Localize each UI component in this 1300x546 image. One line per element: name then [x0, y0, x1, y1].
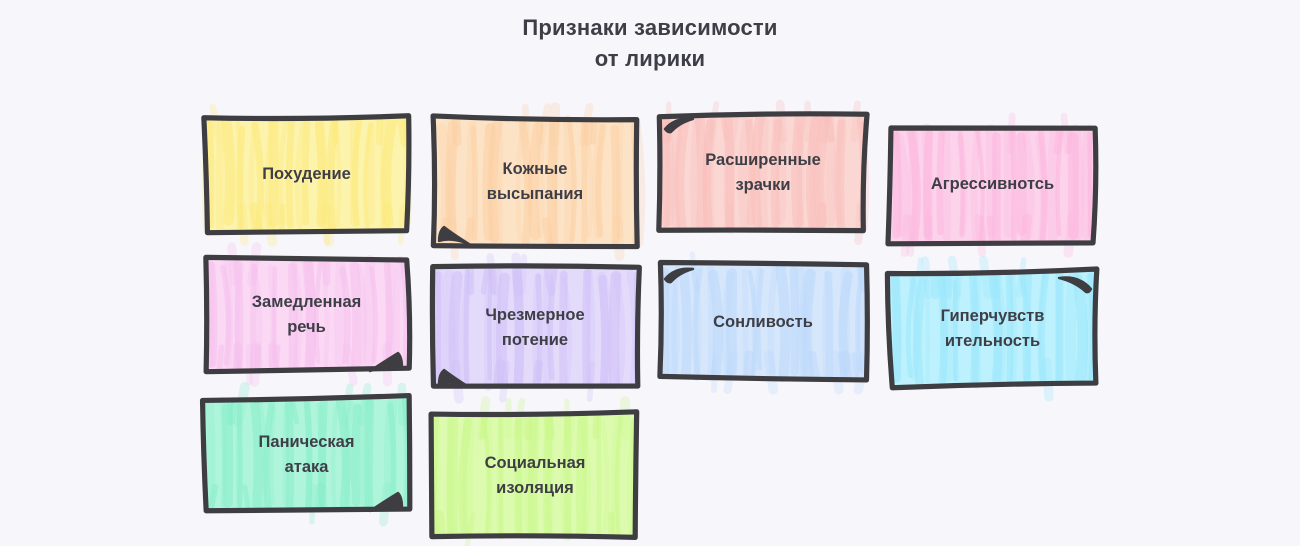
symptom-card-label: Социальная изоляция [471, 451, 600, 501]
symptom-card-label: Чрезмерное потение [471, 303, 598, 353]
symptom-card-zamedlennaya-rech[interactable]: Замедленная речь [203, 256, 410, 373]
symptom-card-label: Паническая атака [245, 430, 369, 480]
symptom-card-kozhnye-vysypaniya[interactable]: Кожные высыпания [431, 116, 639, 247]
symptom-card-grid: Похудение Кожные высыпания Расширенные з… [0, 100, 1300, 546]
symptom-card-panicheskaya-ataka[interactable]: Паническая атака [203, 396, 410, 513]
symptom-card-agressivnotс[interactable]: Агрессивнотсь [888, 125, 1097, 244]
symptom-card-poxudenie[interactable]: Похудение [203, 116, 410, 233]
symptom-card-chrezmernoe-potenie[interactable]: Чрезмерное потение [431, 266, 639, 390]
symptom-card-label: Замедленная речь [238, 290, 376, 340]
symptom-card-giperchuvstvitelnost[interactable]: Гиперчувств ительность [888, 269, 1097, 388]
symptom-card-label: Похудение [248, 162, 365, 187]
symptom-card-label: Сонливость [699, 310, 827, 335]
symptom-card-sonlivost[interactable]: Сонливость [659, 263, 867, 381]
symptom-card-label: Агрессивнотсь [917, 172, 1068, 197]
page-title-line-2: от лирики [0, 43, 1300, 74]
symptom-card-rasshirennye-zrachki[interactable]: Расширенные зрачки [659, 113, 867, 232]
page-title: Признаки зависимости от лирики [0, 12, 1300, 74]
symptom-card-label: Кожные высыпания [473, 157, 597, 207]
symptom-card-socialnaya-izolyaciya[interactable]: Социальная изоляция [431, 410, 639, 541]
symptom-card-label: Расширенные зрачки [691, 148, 835, 198]
symptom-card-label: Гиперчувств ительность [927, 304, 1059, 354]
page-title-line-1: Признаки зависимости [0, 12, 1300, 43]
